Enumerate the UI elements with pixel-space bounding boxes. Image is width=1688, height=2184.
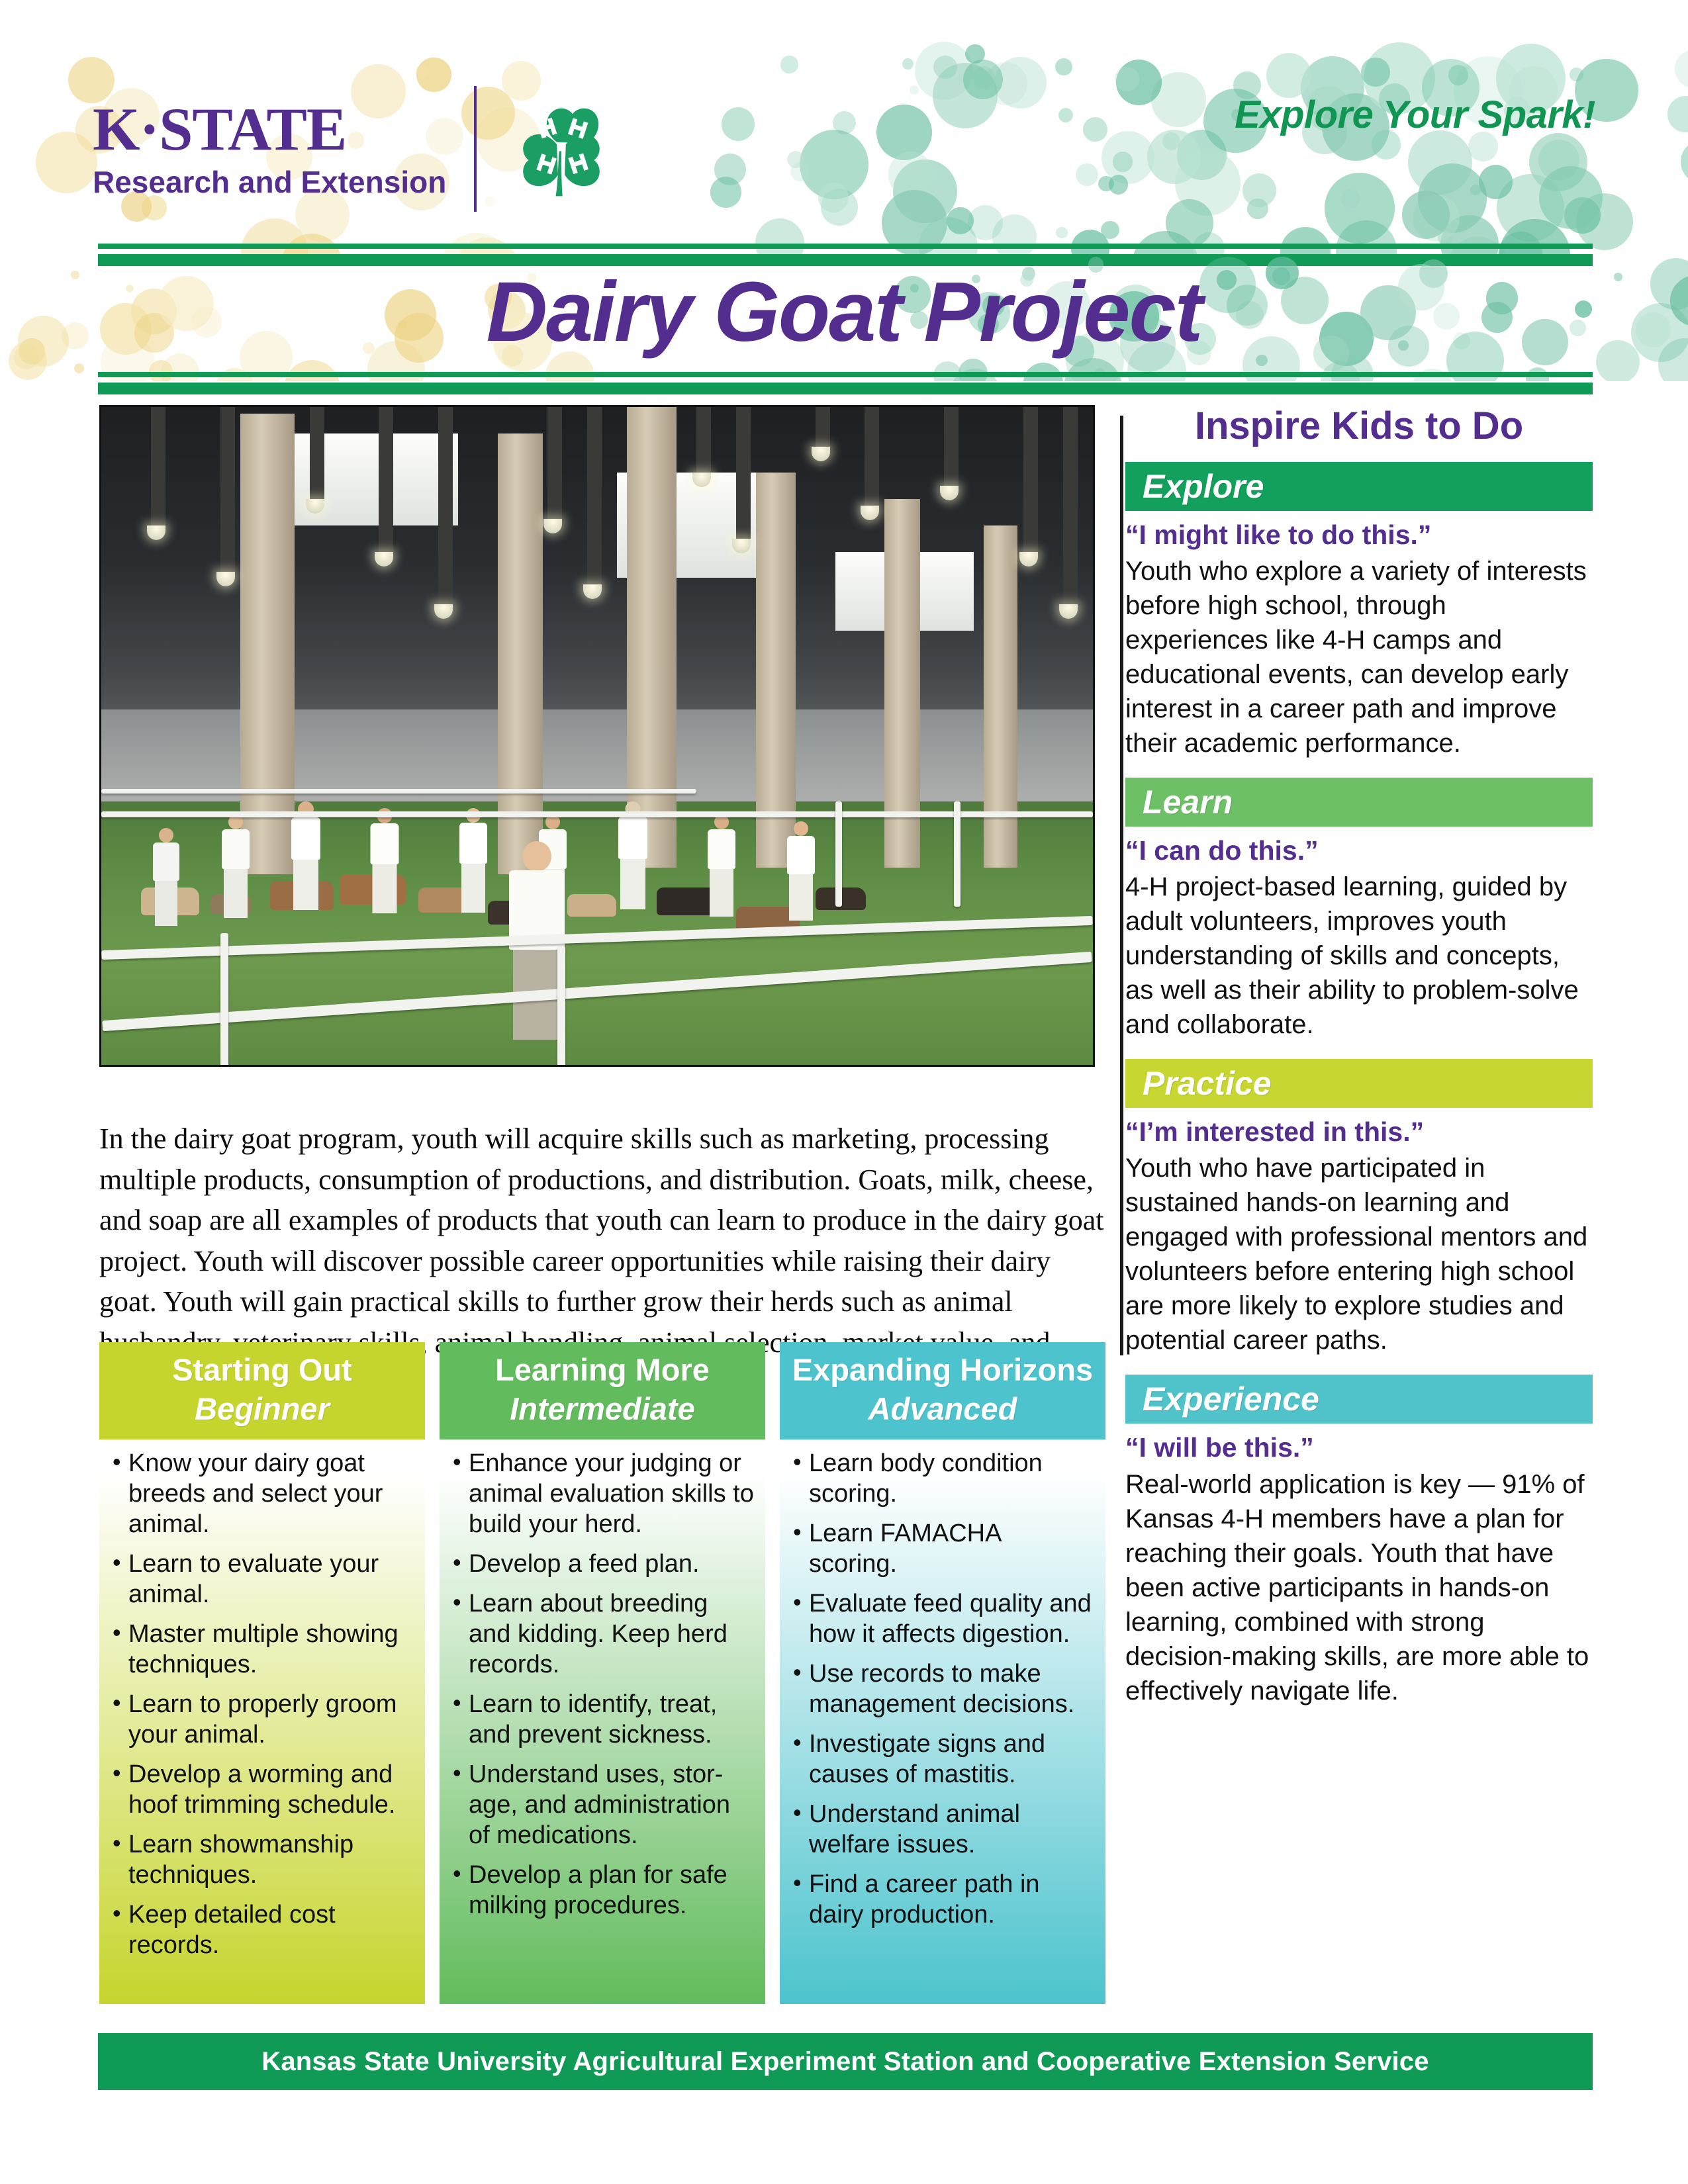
header-rule-thin [98,244,1593,249]
list-item: Learn to properly groom your animal. [109,1690,414,1751]
sidebar-divider [1120,416,1123,1355]
kstate-wordmark: K·STATE [93,99,446,159]
title-rule-thin [98,372,1593,377]
sidebar-section-experience: Experience“I will be this.”Real-world ap… [1125,1375,1593,1707]
dairy-goat-show-photo [99,405,1095,1067]
level-bullet-list: Know your dairy goat breeds and select y… [99,1439,425,2004]
section-label: Experience [1143,1380,1319,1418]
footer-banner: Kansas State University Agricultural Exp… [98,2033,1593,2090]
level-bullet-list: Learn body condition scoring.Learn FAMAC… [780,1439,1105,2004]
list-item: Learn body condition scoring. [789,1449,1095,1510]
section-header-bar: Experience [1125,1375,1593,1424]
level-subtitle: Advanced [786,1392,1099,1427]
sidebar-title: Inspire Kids to Do [1125,405,1593,447]
list-item: Know your dairy goat breeds and select y… [109,1449,414,1540]
four-h-clover-icon [504,93,618,205]
kstate-logo: K·STATE Research and Extension [93,86,618,212]
inspire-sidebar: Inspire Kids to Do Explore“I might like … [1125,405,1593,1725]
sidebar-section-explore: Explore“I might like to do this.”Youth w… [1125,462,1593,760]
section-quote: “I might like to do this.” [1125,519,1593,551]
section-body-text: Youth who explore a variety of interests… [1125,554,1593,760]
list-item: Learn showmanship techniques. [109,1830,414,1891]
section-header-bar: Explore [1125,462,1593,511]
section-header-bar: Learn [1125,778,1593,827]
list-item: Develop a plan for safe milking procedur… [449,1860,755,1921]
list-item: Learn to evaluate your animal. [109,1549,414,1610]
list-item: Evaluate feed quality and how it affects… [789,1589,1095,1650]
level-title: Expanding Horizons [786,1353,1099,1388]
title-rule-thick [98,383,1593,394]
level-subtitle: Intermediate [446,1392,759,1427]
sidebar-section-learn: Learn“I can do this.”4-H project-based l… [1125,778,1593,1042]
section-body-text: Real-world application is key — 91% of K… [1125,1467,1593,1708]
section-label: Explore [1143,467,1264,506]
sidebar-section-practice: Practice“I’m interested in this.”Youth w… [1125,1059,1593,1357]
page-header: K·STATE Research and Extension [0,0,1688,265]
list-item: Develop a worming and hoof trimming sche… [109,1760,414,1821]
level-header: Expanding HorizonsAdvanced [780,1342,1105,1439]
list-item: Understand uses, stor-age, and administr… [449,1760,755,1851]
section-quote: “I can do this.” [1125,835,1593,867]
list-item: Develop a feed plan. [449,1549,755,1580]
list-item: Enhance your judging or animal evaluatio… [449,1449,755,1540]
level-header: Starting OutBeginner [99,1342,425,1439]
list-item: Investigate signs and causes of mastitis… [789,1729,1095,1790]
section-quote: “I will be this.” [1125,1432,1593,1464]
list-item: Keep detailed cost records. [109,1900,414,1961]
level-subtitle: Beginner [106,1392,418,1427]
section-body-text: 4-H project-based learning, guided by ad… [1125,870,1593,1042]
list-item: Learn to identify, treat, and prevent si… [449,1690,755,1751]
footer-text: Kansas State University Agricultural Exp… [261,2047,1429,2077]
level-column-beginner: Starting OutBeginnerKnow your dairy goat… [99,1342,425,2004]
flyer-page: K·STATE Research and Extension [0,0,1688,2184]
progression-columns: Starting OutBeginnerKnow your dairy goat… [99,1342,1105,2004]
level-header: Learning MoreIntermediate [440,1342,765,1439]
level-column-advanced: Expanding HorizonsAdvancedLearn body con… [780,1342,1105,2004]
level-bullet-list: Enhance your judging or animal evaluatio… [440,1439,765,2004]
level-title: Starting Out [106,1353,418,1388]
section-quote: “I’m interested in this.” [1125,1116,1593,1148]
list-item: Find a career path in dairy production. [789,1870,1095,1931]
level-title: Learning More [446,1353,759,1388]
page-title: Dairy Goat Project [0,263,1688,361]
tagline: Explore Your Spark! [1235,93,1595,137]
section-header-bar: Practice [1125,1059,1593,1108]
section-label: Practice [1143,1064,1272,1103]
section-label: Learn [1143,783,1233,821]
list-item: Use records to make management decisions… [789,1659,1095,1720]
list-item: Learn about breeding and kidding. Keep h… [449,1589,755,1680]
logo-divider [474,86,477,212]
list-item: Learn FAMACHA scoring. [789,1519,1095,1580]
list-item: Master multiple showing techniques. [109,1619,414,1680]
section-body-text: Youth who have participated in sustained… [1125,1151,1593,1357]
level-column-intermediate: Learning MoreIntermediateEnhance your ju… [440,1342,765,2004]
list-item: Understand animal welfare issues. [789,1799,1095,1860]
kstate-subbrand: Research and Extension [93,165,446,200]
